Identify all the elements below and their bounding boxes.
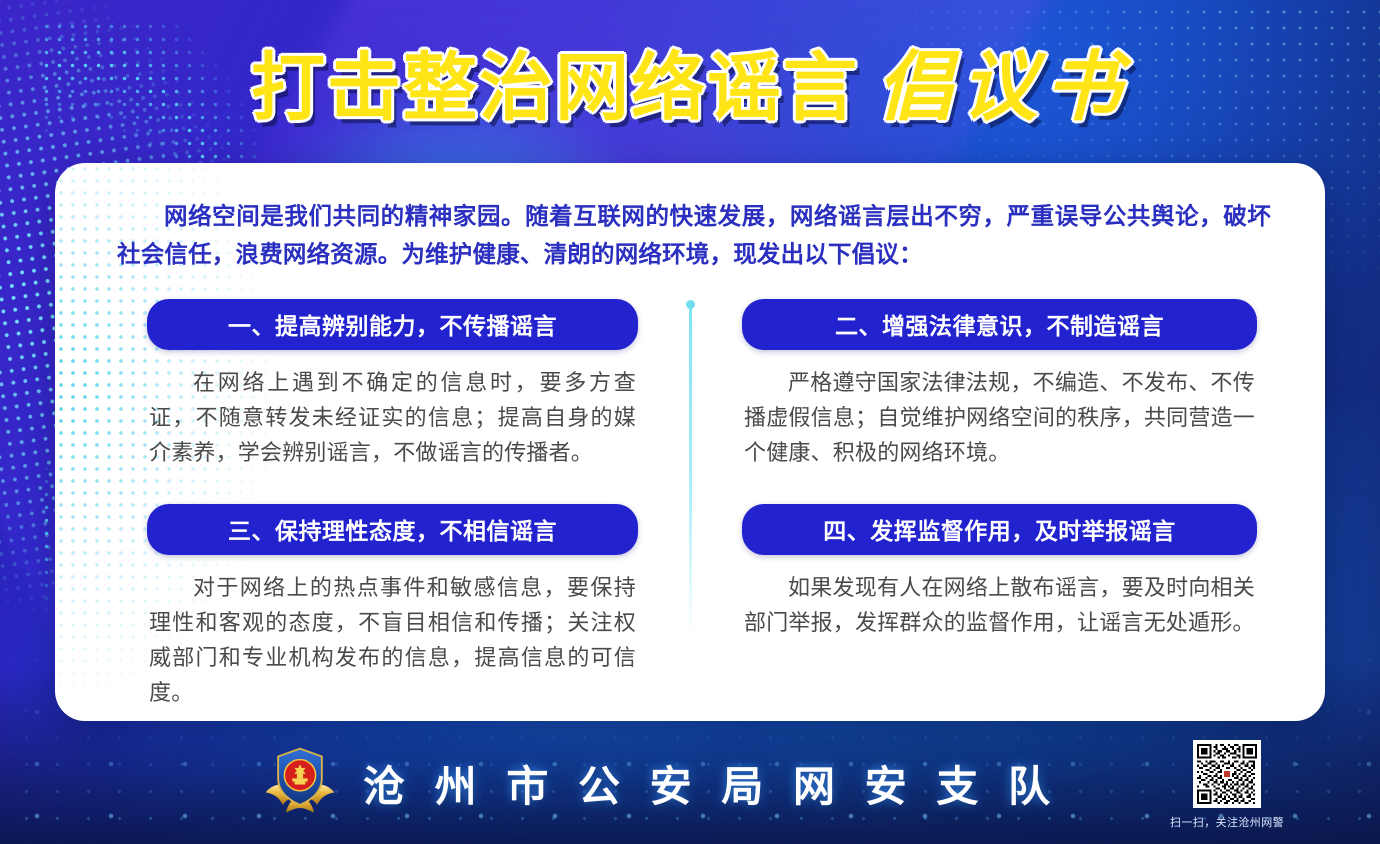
section-block-3: 三、保持理性态度，不相信谣言 对于网络上的热点事件和敏感信息，要保持理性和客观的…: [147, 504, 638, 710]
qr-block: 扫一扫，关注沧州网警: [1170, 740, 1284, 830]
section-body-3: 对于网络上的热点事件和敏感信息，要保持理性和客观的态度，不盲目相信和传播；关注权…: [149, 571, 636, 710]
poster-title-area: 打击整治网络谣言倡议书: [0, 44, 1380, 130]
police-badge-icon: [261, 744, 339, 822]
qr-code-icon[interactable]: [1193, 740, 1261, 808]
poster-title: 打击整治网络谣言倡议书: [251, 44, 1129, 130]
section-body-4: 如果发现有人在网络上散布谣言，要及时向相关部门举报，发挥群众的监督作用，让谣言无…: [744, 571, 1255, 641]
footer-organization-block: 沧 州 市 公 安 局 网 安 支 队: [261, 744, 1059, 822]
section-heading-1: 一、提高辨别能力，不传播谣言: [147, 299, 638, 350]
sections-columns: 一、提高辨别能力，不传播谣言 在网络上遇到不确定的信息时，要多方查证，不随意转发…: [95, 299, 1285, 710]
poster-footer: 沧 州 市 公 安 局 网 安 支 队: [0, 722, 1380, 844]
organization-name: 沧 州 市 公 安 局 网 安 支 队: [363, 753, 1059, 814]
sections-column-right: 二、增强法律意识，不制造谣言 严格遵守国家法律法规，不编造、不发布、不传播虚假信…: [690, 299, 1285, 710]
card-content: 网络空间是我们共同的精神家园。随着互联网的快速发展，网络谣言层出不穷，严重误导公…: [55, 163, 1325, 721]
poster-root: 打击整治网络谣言倡议书 网络空间是我们共同的精神家园。随着互联网的快速发展，网络…: [0, 0, 1380, 844]
section-heading-4: 四、发挥监督作用，及时举报谣言: [742, 504, 1257, 555]
title-sub-text: 倡议书: [877, 42, 1129, 131]
qr-caption: 扫一扫，关注沧州网警: [1170, 814, 1284, 830]
column-divider: [689, 305, 692, 637]
content-card: 网络空间是我们共同的精神家园。随着互联网的快速发展，网络谣言层出不穷，严重误导公…: [55, 163, 1325, 721]
intro-paragraph: 网络空间是我们共同的精神家园。随着互联网的快速发展，网络谣言层出不穷，严重误导公…: [117, 197, 1271, 273]
section-block-4: 四、发挥监督作用，及时举报谣言 如果发现有人在网络上散布谣言，要及时向相关部门举…: [742, 504, 1257, 641]
section-heading-2: 二、增强法律意识，不制造谣言: [742, 299, 1257, 350]
section-body-1: 在网络上遇到不确定的信息时，要多方查证，不随意转发未经证实的信息；提高自身的媒介…: [149, 366, 636, 470]
title-main-text: 打击整治网络谣言: [251, 45, 859, 131]
section-heading-3: 三、保持理性态度，不相信谣言: [147, 504, 638, 555]
section-body-2: 严格遵守国家法律法规，不编造、不发布、不传播虚假信息；自觉维护网络空间的秩序，共…: [744, 366, 1255, 470]
sections-column-left: 一、提高辨别能力，不传播谣言 在网络上遇到不确定的信息时，要多方查证，不随意转发…: [95, 299, 690, 710]
